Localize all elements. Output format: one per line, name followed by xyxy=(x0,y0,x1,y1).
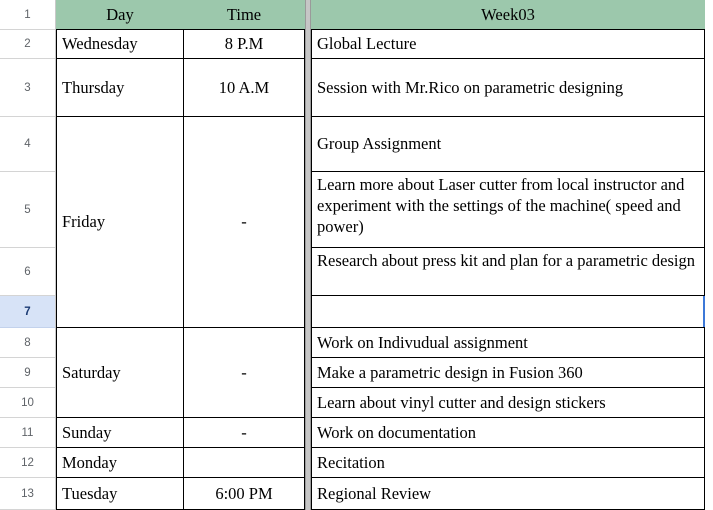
cell-text: Recitation xyxy=(317,452,385,473)
cell-day-saturday-merged[interactable]: Saturday xyxy=(56,327,184,418)
cell-week03-r8[interactable]: Work on Indivudual assignment xyxy=(311,327,705,358)
cell-time-r11[interactable]: - xyxy=(183,417,305,448)
cell-text: - xyxy=(241,211,247,232)
row-header-10[interactable]: 10 xyxy=(0,388,55,418)
cell-text: Wednesday xyxy=(62,33,138,54)
cell-time-r13[interactable]: 6:00 PM xyxy=(183,477,305,510)
cell-week03-r11[interactable]: Work on documentation xyxy=(311,417,705,448)
row-number-label: 11 xyxy=(22,427,34,439)
cell-week03-r7-selected[interactable] xyxy=(311,295,705,328)
column-header-label: Week03 xyxy=(481,4,535,25)
selection-border-right xyxy=(703,296,705,327)
row-number-label: 1 xyxy=(24,9,30,21)
cell-week03-r10[interactable]: Learn about vinyl cutter and design stic… xyxy=(311,387,705,418)
cell-text: Monday xyxy=(62,452,117,473)
cell-text: Session with Mr.Rico on parametric desig… xyxy=(317,77,623,98)
column-header-time[interactable]: Time xyxy=(183,0,305,30)
row-header-2[interactable]: 2 xyxy=(0,30,55,59)
cell-text: - xyxy=(241,362,247,383)
cell-time-friday-merged[interactable]: - xyxy=(183,116,305,328)
column-header-day[interactable]: Day xyxy=(56,0,184,30)
column-header-week03[interactable]: Week03 xyxy=(311,0,705,30)
cell-week03-r13[interactable]: Regional Review xyxy=(311,477,705,510)
row-header-7[interactable]: 7 xyxy=(0,296,55,328)
cell-text: Regional Review xyxy=(317,483,431,504)
row-header-3[interactable]: 3 xyxy=(0,59,55,117)
row-number-label: 6 xyxy=(24,266,30,278)
cell-day-r11[interactable]: Sunday xyxy=(56,417,184,448)
cells-area[interactable]: Day Time Week03 Wednesday 8 P.M Global L… xyxy=(56,0,713,510)
cell-text: Group Assignment xyxy=(317,133,441,154)
row-number-label: 2 xyxy=(24,38,30,50)
row-header-gutter: 1 2 3 4 5 6 7 8 9 10 11 12 13 xyxy=(0,0,56,510)
cell-text: Research about press kit and plan for a … xyxy=(317,250,700,271)
row-header-8[interactable]: 8 xyxy=(0,328,55,358)
cell-text: Tuesday xyxy=(62,483,117,504)
row-number-label: 5 xyxy=(24,204,30,216)
column-header-label: Day xyxy=(106,4,134,25)
cell-day-r13[interactable]: Tuesday xyxy=(56,477,184,510)
cell-text: Thursday xyxy=(62,77,124,98)
column-header-label: Time xyxy=(227,4,261,25)
row-number-label: 12 xyxy=(21,457,34,469)
cell-text: Saturday xyxy=(62,362,121,383)
row-header-1[interactable]: 1 xyxy=(0,0,55,30)
cell-text: Friday xyxy=(62,211,105,232)
cell-text: Work on documentation xyxy=(317,422,476,443)
cell-week03-r3[interactable]: Session with Mr.Rico on parametric desig… xyxy=(311,58,705,117)
cell-text: 6:00 PM xyxy=(215,483,272,504)
row-number-label: 8 xyxy=(24,337,30,349)
cell-day-r12[interactable]: Monday xyxy=(56,447,184,478)
row-header-5[interactable]: 5 xyxy=(0,172,55,248)
cell-time-r2[interactable]: 8 P.M xyxy=(183,29,305,59)
cell-day-friday-merged[interactable]: Friday xyxy=(56,116,184,328)
row-header-6[interactable]: 6 xyxy=(0,248,55,296)
row-header-11[interactable]: 11 xyxy=(0,418,55,448)
cell-week03-r2[interactable]: Global Lecture xyxy=(311,29,705,59)
cell-week03-r6[interactable]: Research about press kit and plan for a … xyxy=(311,247,705,296)
cell-text: Make a parametric design in Fusion 360 xyxy=(317,362,583,383)
cell-week03-r9[interactable]: Make a parametric design in Fusion 360 xyxy=(311,357,705,388)
cell-week03-r5[interactable]: Learn more about Laser cutter from local… xyxy=(311,171,705,248)
cell-time-r12[interactable] xyxy=(183,447,305,478)
cell-day-r2[interactable]: Wednesday xyxy=(56,29,184,59)
row-number-label: 7 xyxy=(24,306,30,318)
cell-text: Learn about vinyl cutter and design stic… xyxy=(317,392,606,413)
cell-time-r3[interactable]: 10 A.M xyxy=(183,58,305,117)
row-header-12[interactable]: 12 xyxy=(0,448,55,478)
cell-text: 10 A.M xyxy=(219,77,269,98)
row-number-label: 13 xyxy=(21,488,34,500)
row-header-13[interactable]: 13 xyxy=(0,478,55,510)
row-number-label: 10 xyxy=(21,397,34,409)
cell-text: Work on Indivudual assignment xyxy=(317,332,528,353)
frozen-pane-divider[interactable] xyxy=(305,0,311,510)
row-number-label: 3 xyxy=(24,82,30,94)
cell-time-saturday-merged[interactable]: - xyxy=(183,327,305,418)
cell-week03-r12[interactable]: Recitation xyxy=(311,447,705,478)
row-header-9[interactable]: 9 xyxy=(0,358,55,388)
spreadsheet-grid[interactable]: 1 2 3 4 5 6 7 8 9 10 11 12 13 Day Time W… xyxy=(0,0,713,510)
cell-text: 8 P.M xyxy=(225,33,264,54)
cell-text: Sunday xyxy=(62,422,112,443)
cell-day-r3[interactable]: Thursday xyxy=(56,58,184,117)
row-header-4[interactable]: 4 xyxy=(0,117,55,172)
cell-text: Global Lecture xyxy=(317,33,416,54)
cell-text: - xyxy=(241,422,247,443)
row-number-label: 9 xyxy=(24,367,30,379)
cell-week03-r4[interactable]: Group Assignment xyxy=(311,116,705,172)
cell-text: Learn more about Laser cutter from local… xyxy=(317,174,700,237)
row-number-label: 4 xyxy=(24,138,30,150)
